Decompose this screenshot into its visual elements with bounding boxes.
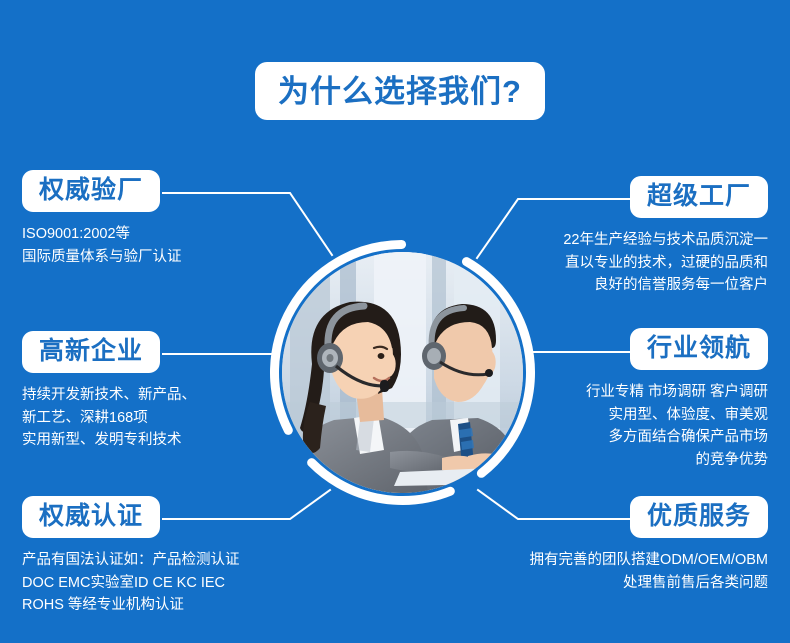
page-title: 为什么选择我们?	[278, 76, 522, 107]
feature-description-line: ISO9001:2002等	[22, 223, 182, 245]
feature-description-line: 22年生产经验与技术品质沉淀一	[563, 229, 768, 251]
center-photo-group	[265, 235, 540, 510]
feature-description-line: 实用新型、发明专利技术	[22, 429, 196, 451]
feature-badge[interactable]: 超级工厂	[630, 176, 768, 218]
feature-description: 拥有完善的团队搭建ODM/OEM/OBM 处理售前售后各类问题	[530, 549, 768, 594]
feature-badge-label: 权威验厂	[39, 176, 143, 204]
feature-badge-label: 超级工厂	[647, 182, 751, 210]
feature-badge[interactable]: 权威验厂	[22, 170, 160, 212]
feature-description-line: 的竞争优势	[586, 449, 768, 471]
feature-right-3: 优质服务 拥有完善的团队搭建ODM/OEM/OBM 处理售前售后各类问题	[530, 496, 768, 594]
feature-description-line: 行业专精 市场调研 客户调研	[586, 381, 768, 403]
feature-description-line: 实用型、体验度、审美观	[586, 404, 768, 426]
feature-badge-label: 高新企业	[39, 337, 143, 365]
feature-left-3: 权威认证 产品有国法认证如：产品检测认证 DOC EMC实验室ID CE KC …	[22, 496, 240, 617]
feature-description: 产品有国法认证如：产品检测认证 DOC EMC实验室ID CE KC IEC R…	[22, 549, 240, 616]
feature-description-line: 产品有国法认证如：产品检测认证	[22, 549, 240, 571]
feature-description: 行业专精 市场调研 客户调研 实用型、体验度、审美观 多方面结合确保产品市场 的…	[586, 381, 768, 471]
feature-badge-label: 优质服务	[647, 502, 751, 530]
feature-badge-label: 行业领航	[647, 334, 751, 362]
feature-description-line: 直以专业的技术，过硬的品质和	[563, 252, 768, 274]
feature-description-line: DOC EMC实验室ID CE KC IEC	[22, 572, 240, 594]
feature-description-line: 持续开发新技术、新产品、	[22, 384, 196, 406]
feature-description-line: 处理售前售后各类问题	[530, 572, 768, 594]
feature-right-2: 行业领航 行业专精 市场调研 客户调研 实用型、体验度、审美观 多方面结合确保产…	[586, 328, 768, 471]
feature-description: 持续开发新技术、新产品、 新工艺、深耕168项 实用新型、发明专利技术	[22, 384, 196, 451]
feature-left-1: 权威验厂 ISO9001:2002等 国际质量体系与验厂认证	[22, 170, 182, 268]
feature-badge[interactable]: 权威认证	[22, 496, 160, 538]
feature-description-line: ROHS 等经专业机构认证	[22, 594, 240, 616]
feature-description-line: 新工艺、深耕168项	[22, 407, 196, 429]
feature-description-line: 国际质量体系与验厂认证	[22, 246, 182, 268]
feature-description-line: 拥有完善的团队搭建ODM/OEM/OBM	[530, 549, 768, 571]
feature-badge[interactable]: 优质服务	[630, 496, 768, 538]
why-choose-us-poster: 为什么选择我们?	[0, 0, 790, 643]
feature-description: ISO9001:2002等 国际质量体系与验厂认证	[22, 223, 182, 268]
feature-description-line: 多方面结合确保产品市场	[586, 426, 768, 448]
feature-badge[interactable]: 高新企业	[22, 331, 160, 373]
feature-badge-label: 权威认证	[39, 502, 143, 530]
feature-left-2: 高新企业 持续开发新技术、新产品、 新工艺、深耕168项 实用新型、发明专利技术	[22, 331, 196, 452]
feature-description: 22年生产经验与技术品质沉淀一 直以专业的技术，过硬的品质和 良好的信誉服务每一…	[563, 229, 768, 296]
feature-description-line: 良好的信誉服务每一位客户	[563, 274, 768, 296]
feature-badge[interactable]: 行业领航	[630, 328, 768, 370]
feature-right-1: 超级工厂 22年生产经验与技术品质沉淀一 直以专业的技术，过硬的品质和 良好的信…	[563, 176, 768, 297]
customer-service-photo	[282, 252, 523, 493]
page-title-pill: 为什么选择我们?	[255, 62, 545, 120]
